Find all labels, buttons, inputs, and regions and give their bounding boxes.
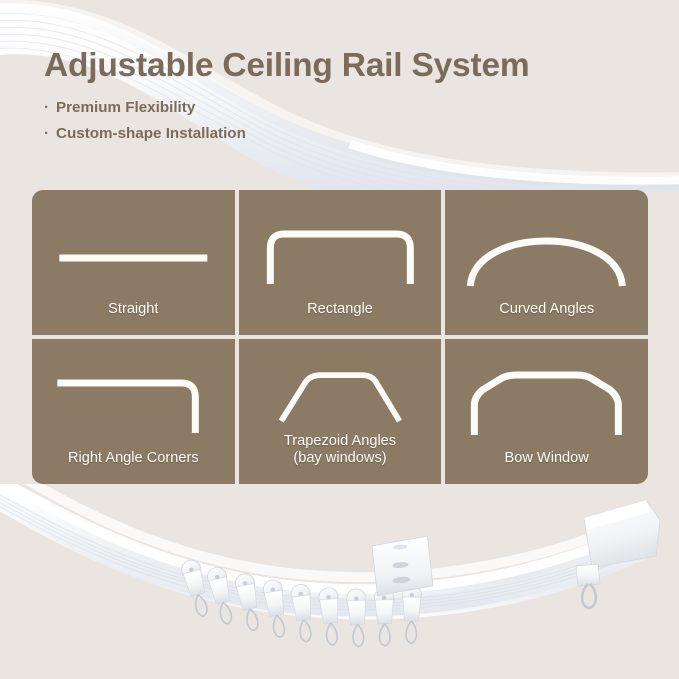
end-stop-hook (576, 564, 600, 608)
shape-card-straight[interactable]: Straight (32, 190, 235, 335)
trapezoid-rail-icon (239, 357, 442, 433)
rail-end-cap (584, 500, 660, 568)
rectangle-rail-icon (239, 208, 442, 300)
shape-label-rectangle: Rectangle (301, 301, 379, 318)
shape-label-curved-angles: Curved Angles (493, 301, 600, 318)
straight-rail-icon (32, 208, 235, 300)
curved-rail-icon (445, 208, 648, 300)
bow-window-rail-icon (445, 357, 648, 449)
feature-item-1: · Custom-shape Installation (44, 125, 604, 142)
right-angle-rail-icon (32, 357, 235, 449)
shape-label-right-angle-corners: Right Angle Corners (62, 450, 205, 467)
page-title: Adjustable Ceiling Rail System (44, 48, 604, 85)
feature-label: Custom-shape Installation (56, 125, 246, 142)
shape-card-right-angle-corners[interactable]: Right Angle Corners (32, 339, 235, 484)
bullet-icon: · (44, 126, 49, 141)
shape-card-curved-angles[interactable]: Curved Angles (445, 190, 648, 335)
shape-options-grid: Straight Rectangle Curved Angles (32, 190, 648, 484)
shape-label-bow-window: Bow Window (498, 450, 594, 467)
feature-label: Premium Flexibility (56, 99, 195, 116)
mounting-bracket (372, 536, 434, 596)
feature-item-0: · Premium Flexibility (44, 99, 604, 116)
infographic-canvas: Adjustable Ceiling Rail System · Premium… (0, 0, 679, 679)
shape-label-trapezoid-angles: Trapezoid Angles (bay windows) (278, 433, 402, 467)
header: Adjustable Ceiling Rail System · Premium… (44, 48, 604, 151)
bullet-icon: · (44, 100, 49, 115)
shape-card-trapezoid-angles[interactable]: Trapezoid Angles (bay windows) (239, 339, 442, 484)
shape-label-straight: Straight (102, 301, 164, 318)
shape-card-rectangle[interactable]: Rectangle (239, 190, 442, 335)
roller-carriers (180, 558, 422, 647)
shape-card-bow-window[interactable]: Bow Window (445, 339, 648, 484)
